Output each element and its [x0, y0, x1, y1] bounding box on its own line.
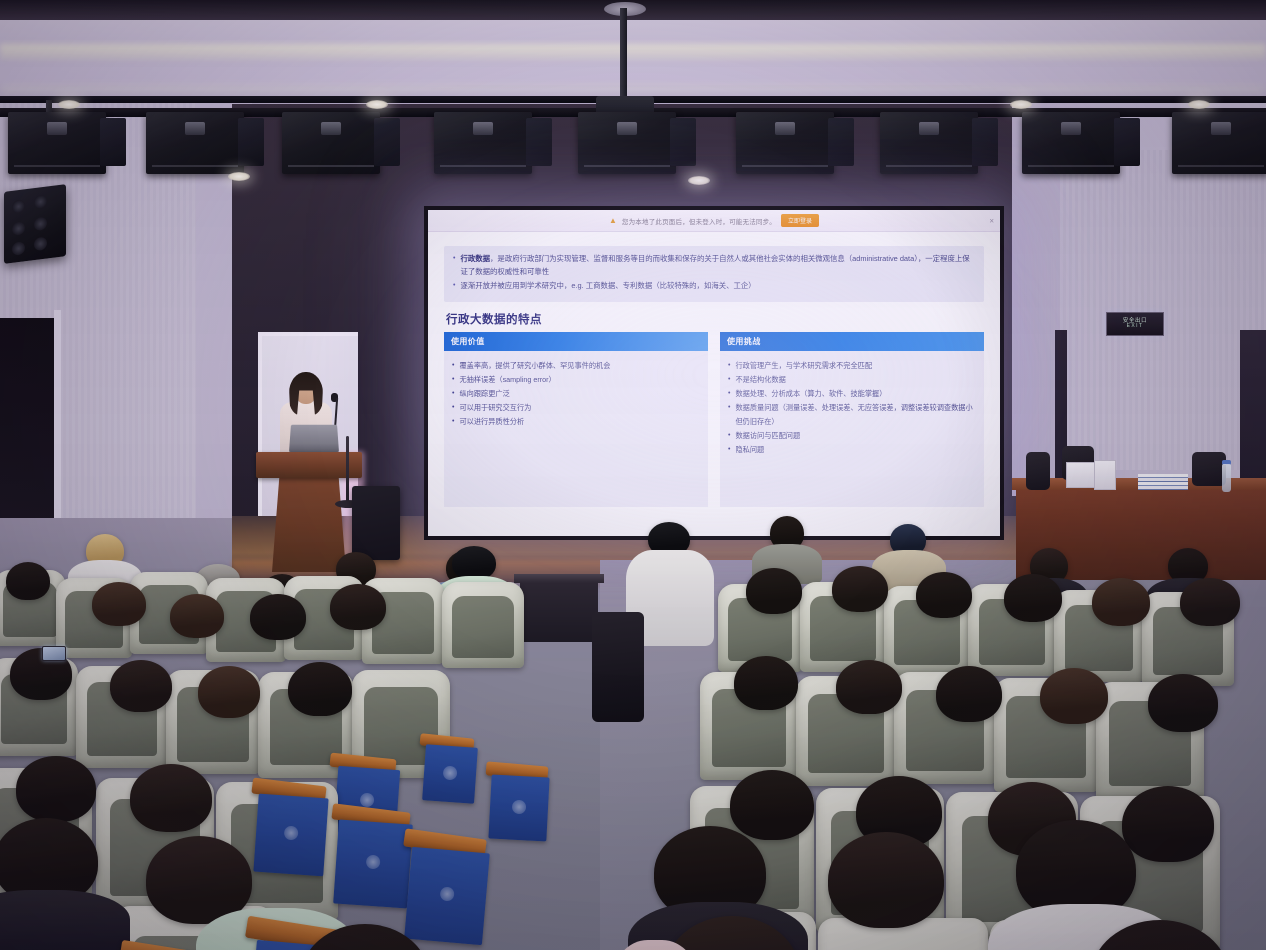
- presentation-warning-banner[interactable]: ▲ 您为本地了此页面后，但未登入时，可能无法同步。 立即登录 ×: [428, 210, 1000, 232]
- seat-side-panel: [404, 847, 490, 945]
- seat-side-panel: [333, 820, 413, 909]
- audience-head: [730, 770, 814, 840]
- stage-light-fixture: [434, 112, 532, 174]
- cove-light-strip: [0, 44, 1266, 60]
- ceiling-downlight: [688, 176, 710, 185]
- stage-light-barndoor: [238, 118, 264, 166]
- stage-light-barndoor: [526, 118, 552, 166]
- audience-head: [836, 660, 902, 714]
- stage-light-fixture: [1172, 112, 1266, 174]
- intro-body-text-2: 逐渐开放并被应用到学术研究中，e.g. 工商数据、专利数据（比较特殊的，如海关、…: [460, 280, 755, 293]
- bullet-dot-icon: •: [728, 359, 730, 373]
- bullet-dot-icon: •: [728, 443, 730, 457]
- auditorium-seat[interactable]: [442, 582, 524, 668]
- draped-jacket: [592, 612, 644, 722]
- stage-light-fixture: [880, 112, 978, 174]
- stage-light-barndoor: [670, 118, 696, 166]
- audience-head: [936, 666, 1002, 722]
- list-item: •数据处理、分析成本（算力、软件、技能掌握）: [728, 387, 976, 401]
- audience-head: [1092, 578, 1150, 626]
- stage-light-fixture: [282, 112, 380, 174]
- projector-pole: [620, 8, 627, 100]
- bullet-dot-icon: •: [453, 280, 455, 293]
- exit-sign-english: EXIT: [1127, 324, 1144, 329]
- column-use-value: 使用价值 •覆盖率高，提供了研究小群体、罕见事件的机会 •无抽样误差（sampl…: [444, 332, 708, 507]
- paper-stack: [1094, 460, 1116, 490]
- wall-speaker-icon: [4, 184, 66, 264]
- audience-head: [170, 594, 224, 638]
- water-bottle: [1222, 464, 1231, 492]
- stage-light-barndoor: [1114, 118, 1140, 166]
- bullet-dot-icon: •: [452, 415, 454, 429]
- stage-light-fixture: [578, 112, 676, 174]
- bullet-dot-icon: •: [728, 429, 730, 443]
- audience-head: [6, 562, 50, 600]
- bullet-dot-icon: •: [728, 387, 730, 401]
- intro-lead-term: 行政数据: [460, 254, 490, 263]
- banner-login-button[interactable]: 立即登录: [781, 214, 819, 227]
- audience-head: [1040, 668, 1108, 724]
- audience-head: [198, 666, 260, 718]
- bullet-dot-icon: •: [452, 401, 454, 415]
- cove-light-strip-lower: [0, 86, 1266, 96]
- stage-light-barndoor: [100, 118, 126, 166]
- audience-head: [330, 584, 386, 630]
- smartphone[interactable]: [42, 646, 66, 661]
- column-body-challenge: •行政管理产生，与学术研究需求不完全匹配 •不是结构化数据 •数据处理、分析成本…: [720, 351, 984, 507]
- audience-head: [1122, 786, 1214, 862]
- list-item: •数据访问与匹配问题: [728, 429, 976, 443]
- stage-light-fixture: [736, 112, 834, 174]
- bullet-dot-icon: •: [453, 253, 455, 279]
- column-header-challenge: 使用挑战: [720, 332, 984, 351]
- right-rear-door[interactable]: [1240, 330, 1266, 500]
- column-body-value: •覆盖率高，提供了研究小群体、罕见事件的机会 •无抽样误差（sampling e…: [444, 351, 708, 507]
- close-icon[interactable]: ×: [989, 216, 994, 225]
- exit-sign: 安全出口 EXIT: [1106, 312, 1164, 336]
- list-item: •纵向跟踪更广泛: [452, 387, 700, 401]
- stage-light-barndoor: [828, 118, 854, 166]
- column-use-challenge: 使用挑战 •行政管理产生，与学术研究需求不完全匹配 •不是结构化数据 •数据处理…: [720, 332, 984, 507]
- audience-head: [130, 764, 212, 832]
- list-item: •无抽样误差（sampling error）: [452, 373, 700, 387]
- slide-heading: 行政大数据的特点: [446, 311, 984, 327]
- audience-head: [1148, 674, 1218, 732]
- audience-head: [288, 662, 352, 716]
- ceiling-downlight: [366, 100, 388, 109]
- projection-screen[interactable]: ▲ 您为本地了此页面后，但未登入时，可能无法同步。 立即登录 × • 行政数据，…: [428, 210, 1000, 536]
- list-item: •数据质量问题（测量误差、处理误差、无应答误差，调整误差较调查数据小但仍旧存在）: [728, 401, 976, 429]
- bullet-dot-icon: •: [452, 359, 454, 373]
- list-item: •行政管理产生，与学术研究需求不完全匹配: [728, 359, 976, 373]
- list-item: •可以进行异质性分析: [452, 415, 700, 429]
- stage-light-barndoor: [374, 118, 400, 166]
- list-item: •隐私问题: [728, 443, 976, 457]
- list-item: •覆盖率高，提供了研究小群体、罕见事件的机会: [452, 359, 700, 373]
- right-wall-acoustic-panel: [1060, 150, 1266, 470]
- column-header-value: 使用价值: [444, 332, 708, 351]
- intro-body-text: ，是政府行政部门为实现管理、监督和服务等目的而收集和保存的关于自然人或其他社会实…: [460, 254, 969, 276]
- audience-head: [1180, 578, 1240, 626]
- warning-triangle-icon: ▲: [609, 217, 617, 225]
- slide-content: • 行政数据，是政府行政部门为实现管理、监督和服务等目的而收集和保存的关于自然人…: [428, 232, 1000, 536]
- stage-light-barndoor: [972, 118, 998, 166]
- intro-bullet-2: • 逐渐开放并被应用到学术研究中，e.g. 工商数据、专利数据（比较特殊的，如海…: [453, 280, 975, 293]
- audience-head-with-cap: [452, 546, 496, 580]
- office-chair[interactable]: [1192, 452, 1226, 486]
- ceiling-downlight: [1188, 100, 1210, 109]
- ceiling-downlight: [58, 100, 80, 109]
- presenter-laptop[interactable]: [289, 425, 339, 453]
- audience-head: [916, 572, 972, 618]
- office-chair[interactable]: [1026, 452, 1050, 490]
- room-background: 安全出口 EXIT ▲ 您为本地了此页面后，但未登入时，可能无法同步。 立即登录…: [0, 0, 1266, 950]
- lecture-hall-photo: 安全出口 EXIT ▲ 您为本地了此页面后，但未登入时，可能无法同步。 立即登录…: [0, 0, 1266, 950]
- audience-shoulders: [0, 890, 130, 950]
- audience-head: [92, 582, 146, 626]
- audience-head: [16, 756, 96, 822]
- seat-side-panel: [488, 775, 549, 842]
- audience-head: [734, 656, 798, 710]
- seat-side-panel: [253, 794, 328, 877]
- stage-light-fixture: [1022, 112, 1120, 174]
- stage-light-fixture: [8, 112, 106, 174]
- audience-head: [828, 832, 944, 928]
- ceiling-downlight: [1010, 100, 1032, 109]
- stage-light-fixture: [146, 112, 244, 174]
- audience-head: [832, 566, 888, 612]
- bullet-dot-icon: •: [728, 401, 730, 429]
- slide-two-column-table: 使用价值 •覆盖率高，提供了研究小群体、罕见事件的机会 •无抽样误差（sampl…: [444, 332, 984, 507]
- banner-message: 您为本地了此页面后，但未登入时，可能无法同步。: [622, 216, 776, 226]
- audience-head: [1004, 574, 1062, 622]
- bullet-dot-icon: •: [452, 373, 454, 387]
- audience-head: [250, 594, 306, 640]
- audience-head: [110, 660, 172, 712]
- slide-intro-block: • 行政数据，是政府行政部门为实现管理、监督和服务等目的而收集和保存的关于自然人…: [444, 246, 984, 302]
- bullet-dot-icon: •: [452, 387, 454, 401]
- list-item: •不是结构化数据: [728, 373, 976, 387]
- floor-microphone-stand: [346, 436, 349, 508]
- ceiling-downlight: [228, 172, 250, 181]
- audience-head: [746, 568, 802, 614]
- book-stack: [1138, 474, 1188, 490]
- bullet-dot-icon: •: [728, 373, 730, 387]
- list-item: •可以用于研究交互行为: [452, 401, 700, 415]
- audience-seating: [0, 520, 1266, 950]
- seat-side-panel: [422, 744, 478, 803]
- intro-bullet-1: • 行政数据，是政府行政部门为实现管理、监督和服务等目的而收集和保存的关于自然人…: [453, 253, 975, 279]
